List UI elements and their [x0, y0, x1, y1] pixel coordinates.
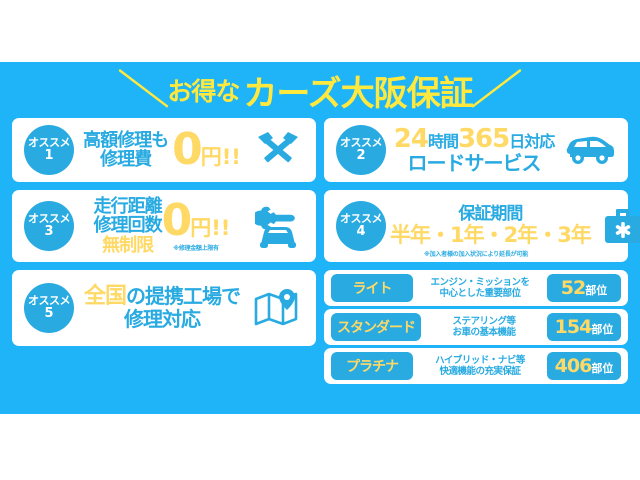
plan-name-pill[interactable]: ライト [331, 274, 413, 302]
card-2-line2: ロードサービス [394, 153, 555, 175]
feature-card-5: オススメ 5 全国の提携工場で 修理対応 [12, 270, 316, 346]
card-5-body: 全国の提携工場で 修理対応 [74, 285, 250, 330]
feature-card-2: オススメ 2 24時間365日対応 ロードサービス [324, 118, 628, 182]
badge-number: 5 [44, 307, 53, 321]
headline: ＼ お得な カーズ大阪保証 ／ [0, 66, 640, 114]
card-2-num2: 365 [458, 124, 509, 154]
card-5-text: 全国の提携工場で 修理対応 [84, 285, 240, 330]
card-4-note: ※加入者様の加入状況により延長が可能 [324, 249, 628, 258]
headline-small-text: お得な [167, 72, 239, 108]
card-3-line1: 走行距離 [94, 197, 162, 216]
card-1-text: 高額修理も 修理費 [83, 131, 168, 170]
card-3-body: 走行距離 修理回数 無制限 0 円!! ※修理金額上限有 [74, 197, 250, 255]
map-pin-icon [250, 287, 306, 329]
feature-card-4: オススメ 4 保証期間 半年・1年・2年・3年 [324, 190, 628, 262]
card-3-text: 走行距離 修理回数 無制限 [94, 197, 162, 255]
card-4-body: 保証期間 半年・1年・2年・3年 [386, 205, 595, 246]
card-3-amount: 0 円!! ※修理金額上限有 [162, 201, 231, 252]
warranty-advertisement: ＼ お得な カーズ大阪保証 ／ オススメ 1 高額修理も 修理費 0 [0, 0, 640, 480]
plan-count-unit: 部位 [591, 323, 613, 336]
card-2-txt1: 時間 [428, 132, 458, 151]
card-1-line2: 修理費 [83, 150, 168, 169]
slash-left-icon: ＼ [118, 70, 171, 110]
badge-1: オススメ 1 [24, 125, 74, 175]
card-1-line1: 高額修理も [83, 131, 168, 150]
plan-name-pill[interactable]: プラチナ [331, 352, 413, 380]
plan-description: ステアリング等 お車の基本機能 [427, 316, 541, 339]
plan-count: 52部位 [547, 274, 621, 302]
card-3-amount-number: 0 [162, 201, 193, 241]
card-row-3: オススメ 5 全国の提携工場で 修理対応 [12, 270, 628, 384]
plan-desc-line2: 中心とした重要部位 [419, 288, 541, 299]
plan-name-pill[interactable]: スタンダード [331, 313, 421, 341]
card-2-body: 24時間365日対応 ロードサービス [386, 125, 562, 175]
toolbox-icon [595, 205, 640, 247]
card-3-amount-unit: 円!! [190, 212, 230, 242]
plan-count: 406部位 [547, 352, 621, 380]
plan-desc-line1: ハイブリッド・ナビ等 [419, 355, 541, 366]
badge-2: オススメ 2 [336, 125, 386, 175]
plan-count-unit: 部位 [585, 284, 607, 297]
plan-desc-line2: お車の基本機能 [427, 327, 541, 338]
card-row-2: オススメ 3 走行距離 修理回数 無制限 0 円!! ※修理金額上限有 [12, 190, 628, 262]
card-4-line1: 保証期間 [390, 205, 591, 223]
card-3-note: ※修理金額上限有 [173, 243, 218, 252]
badge-number: 4 [356, 225, 365, 239]
badge-number: 2 [356, 149, 365, 163]
plan-desc-line1: エンジン・ミッションを [419, 277, 541, 288]
card-3-line2: 修理回数 [94, 216, 162, 235]
card-row-1: オススメ 1 高額修理も 修理費 0 円!! [12, 118, 628, 182]
card-2-num1: 24 [394, 124, 428, 154]
plan-desc-line1: ステアリング等 [427, 316, 541, 327]
badge-3: オススメ 3 [24, 201, 74, 251]
card-1-amount-number: 0 [172, 130, 203, 170]
plan-count: 154部位 [547, 313, 621, 341]
plan-list: ライト エンジン・ミッションを 中心とした重要部位 52部位 スタンダード ステ… [324, 270, 628, 384]
plan-description: エンジン・ミッションを 中心とした重要部位 [419, 277, 541, 300]
plan-desc-line2: 快適機能の充実保証 [419, 366, 541, 377]
badge-4: オススメ 4 [336, 201, 386, 251]
plan-row-light[interactable]: ライト エンジン・ミッションを 中心とした重要部位 52部位 [324, 270, 628, 306]
card-5-line1-highlight: 全国 [84, 284, 126, 309]
headline-big-text: カーズ大阪保証 [243, 66, 472, 115]
badge-number: 3 [44, 225, 53, 239]
card-5-line2: 修理対応 [84, 309, 240, 331]
plan-count-number: 154 [555, 316, 592, 338]
plan-description: ハイブリッド・ナビ等 快適機能の充実保証 [419, 355, 541, 378]
card-2-txt2: 日対応 [509, 132, 554, 151]
plan-count-number: 406 [555, 355, 592, 377]
feature-cards: オススメ 1 高額修理も 修理費 0 円!! [12, 118, 628, 392]
feature-card-3: オススメ 3 走行距離 修理回数 無制限 0 円!! ※修理金額上限有 [12, 190, 316, 262]
card-1-amount-unit: 円!! [201, 141, 241, 171]
card-1-body: 高額修理も 修理費 0 円!! [74, 130, 250, 171]
card-5-line1-rest: の提携工場で [126, 284, 240, 308]
car-side-icon [562, 134, 618, 166]
card-4-line2: 半年・1年・2年・3年 [390, 224, 591, 247]
slash-right-icon: ／ [469, 70, 522, 110]
card-2-text: 24時間365日対応 ロードサービス [394, 125, 555, 175]
crossed-hammers-icon [250, 130, 306, 170]
card-4-text: 保証期間 半年・1年・2年・3年 [390, 205, 591, 246]
plan-count-number: 52 [561, 277, 585, 299]
plan-row-standard[interactable]: スタンダード ステアリング等 お車の基本機能 154部位 [324, 309, 628, 345]
plan-row-platinum[interactable]: プラチナ ハイブリッド・ナビ等 快適機能の充実保証 406部位 [324, 348, 628, 384]
feature-card-1: オススメ 1 高額修理も 修理費 0 円!! [12, 118, 316, 182]
card-3-line3: 無制限 [94, 236, 162, 255]
card-1-amount: 0 円!! [172, 130, 241, 171]
badge-5: オススメ 5 [24, 283, 74, 333]
car-wrench-icon [250, 202, 306, 250]
plan-count-unit: 部位 [591, 362, 613, 375]
badge-number: 1 [44, 149, 53, 163]
